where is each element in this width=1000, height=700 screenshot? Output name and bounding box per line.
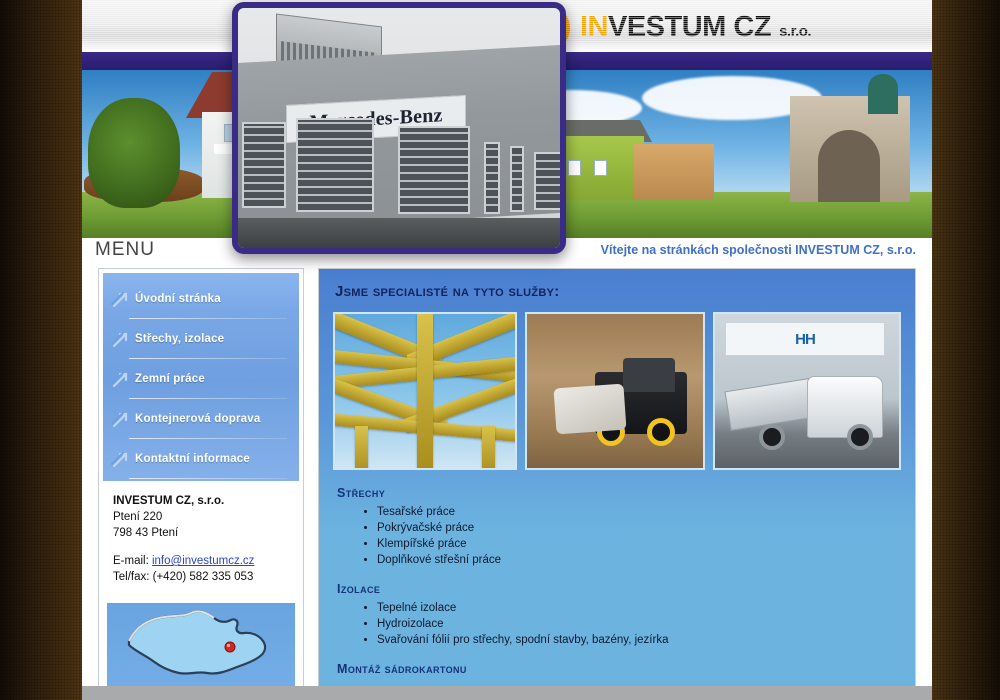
arrow-ne-icon (109, 448, 135, 470)
service-items-strechy: Tesařské práce Pokrývačské práce Klempíř… (377, 504, 901, 568)
sidebar-item-label: Úvodní stránka (135, 293, 221, 305)
columns: Úvodní stránka Střechy, izolace (82, 268, 932, 700)
tipper-truck-photo[interactable]: HH (713, 312, 901, 470)
logo-rest: VESTUM CZ (608, 11, 771, 44)
sidebar-item-strechy-izolace[interactable]: Střechy, izolace (103, 319, 299, 359)
sidebar: Úvodní stránka Střechy, izolace (98, 268, 304, 700)
contact-city: 798 43 Ptení (113, 525, 297, 541)
list-item: Hydroizolace (377, 616, 901, 632)
bottom-gray-strip (82, 686, 932, 700)
content-heading: Jsme specialisté na tyto služby: (335, 283, 901, 300)
sidebar-item-zemni-prace[interactable]: Zemní práce (103, 359, 299, 399)
contact-company: INVESTUM CZ, s.r.o. (113, 493, 297, 509)
banner-window (594, 160, 607, 176)
thumbnail-row: HH (333, 312, 901, 470)
page-container: INVESTUM CZ s.r.o. (82, 0, 932, 700)
arrow-ne-icon (109, 368, 135, 390)
header-photo-mercedes: Mercedes-Benz (232, 2, 566, 254)
banner-tree (88, 98, 180, 208)
banner-arch-opening (818, 130, 880, 202)
sidebar-item-label: Kontejnerová doprava (135, 413, 260, 425)
list-item: Doplňkové střešní práce (377, 552, 901, 568)
truck-wheel (759, 424, 785, 450)
logo-prefix: IN (580, 11, 608, 44)
sidebar-item-kontaktni-informace[interactable]: Kontaktní informace (103, 439, 299, 479)
service-heading-strechy: Střechy (337, 486, 901, 500)
list-item: Tepelné izolace (377, 600, 901, 616)
roof-trusses-photo[interactable] (333, 312, 517, 470)
list-item: Svařování fólií pro střechy, spodní stav… (377, 632, 901, 648)
sidebar-item-label: Střechy, izolace (135, 333, 224, 345)
photo-garage-door (398, 126, 470, 214)
truck-cab (807, 376, 883, 438)
list-item: Pokrývačské práce (377, 520, 901, 536)
arrow-ne-icon (109, 328, 135, 350)
welcome-text: Vítejte na stránkách společnosti INVESTU… (601, 243, 916, 257)
photo-side-door (484, 142, 500, 214)
truss-post (355, 426, 368, 470)
map-shape-icon (113, 607, 289, 687)
list-item: Tesařské práce (377, 504, 901, 520)
content-inner: Jsme specialisté na tyto služby: (319, 269, 915, 690)
banner-house-tan (634, 144, 714, 200)
loader-cab (623, 358, 675, 392)
content-panel: Jsme specialisté na tyto služby: (318, 268, 916, 700)
sidebar-item-kontejnerova-doprava[interactable]: Kontejnerová doprava (103, 399, 299, 439)
service-items-izolace: Tepelné izolace Hydroizolace Svařování f… (377, 600, 901, 648)
truss-post (417, 314, 433, 470)
list-item: Klempířské práce (377, 536, 901, 552)
logo-suffix: s.r.o. (779, 23, 811, 40)
photo-garage-door (534, 152, 566, 210)
arrow-ne-icon (109, 288, 135, 310)
main-area: MENU Vítejte na stránkách společnosti IN… (82, 238, 932, 700)
service-heading-montaz-sadrokartonu: Montáž sádrokartonu (337, 662, 901, 676)
contact-email-row: E-mail: info@investumcz.cz (113, 553, 297, 569)
photo-side-door (510, 146, 524, 212)
arrow-ne-icon (109, 408, 135, 430)
photo-garage-door (242, 122, 286, 208)
service-heading-izolace: Izolace (337, 582, 901, 596)
czech-republic-map (107, 603, 295, 691)
truck-wheel (847, 424, 873, 450)
services-list: Střechy Tesařské práce Pokrývačské práce… (333, 486, 901, 676)
hh-logo-sign: HH (725, 322, 885, 356)
sidebar-item-label: Zemní práce (135, 373, 205, 385)
excavator-photo[interactable] (525, 312, 705, 470)
logo-text: INVESTUM CZ s.r.o. (580, 11, 811, 44)
sidebar-item-label: Kontaktní informace (135, 453, 250, 465)
photo-ground (238, 218, 560, 248)
sidebar-item-uvodni-stranka[interactable]: Úvodní stránka (103, 279, 299, 319)
contact-phone: Tel/fax: (+420) 582 335 053 (113, 569, 297, 585)
contact-street: Ptení 220 (113, 509, 297, 525)
banner-tower (868, 74, 898, 114)
contact-block: INVESTUM CZ, s.r.o. Ptení 220 798 43 Pte… (103, 481, 299, 593)
truss-post (482, 426, 495, 470)
sidebar-menu: Úvodní stránka Střechy, izolace (103, 273, 299, 481)
banner-window (568, 160, 581, 176)
loader-wheel (647, 418, 675, 446)
contact-email-link[interactable]: info@investumcz.cz (152, 555, 254, 567)
menu-title: MENU (95, 239, 155, 261)
photo-garage-door (296, 118, 374, 212)
contact-email-label: E-mail: (113, 555, 149, 567)
stone-block (553, 384, 626, 435)
